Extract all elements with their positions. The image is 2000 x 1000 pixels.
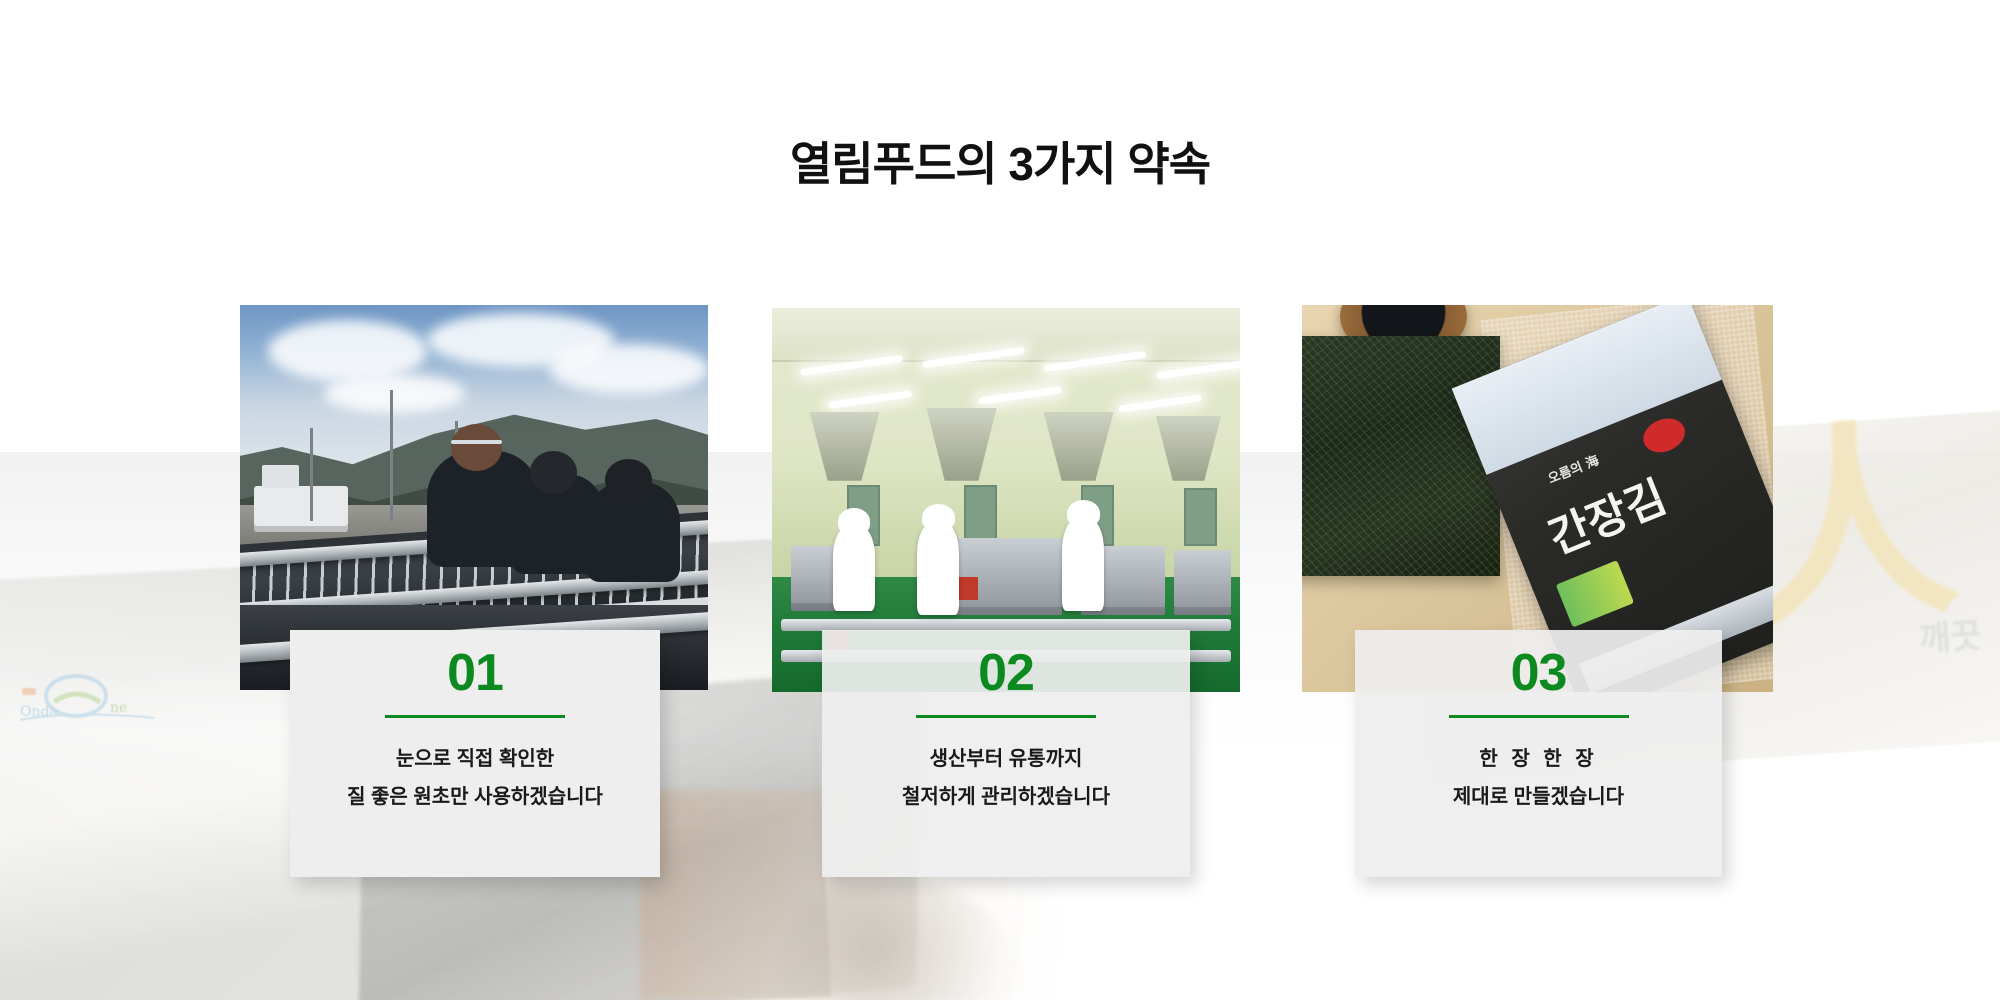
promise-card-03-divider [1449, 715, 1629, 718]
worker-head [530, 451, 577, 493]
worker-hair-cap [1067, 500, 1100, 527]
utility-pole [390, 390, 393, 521]
calligraphy-watermark-subtext: 깨끗 [1918, 608, 1984, 661]
page-title: 열림푸드의 3가지 약속 [0, 128, 2000, 194]
promise-card-02-number: 02 [822, 646, 1190, 701]
promise-card-01-line-1: 눈으로 직접 확인한 [290, 740, 660, 778]
cloud [324, 374, 464, 413]
promise-card-03-text: 한 장 한 장 제대로 만들겠습니다 [1355, 740, 1722, 816]
promise-section: Onda ne 붉 人 깨끗 열림푸드의 3가지 약속 [0, 0, 2000, 1000]
worker-hair-cap [922, 504, 955, 531]
promise-card-01-divider [385, 715, 565, 718]
promise-card-01-panel: 01 눈으로 직접 확인한 질 좋은 원초만 사용하겠습니다 [290, 630, 660, 877]
promise-card-01-text: 눈으로 직접 확인한 질 좋은 원초만 사용하겠습니다 [290, 740, 660, 816]
promise-card-02-line-2: 철저하게 관리하겠습니다 [822, 778, 1190, 816]
svg-text:Onda: Onda [20, 704, 58, 720]
utility-pole [310, 428, 313, 520]
cloud [268, 320, 427, 382]
svg-text:ne: ne [110, 700, 127, 716]
worker-in-whites [917, 523, 959, 615]
promise-card-03-line-1: 한 장 한 장 [1355, 740, 1722, 778]
cleanroom-door [964, 485, 997, 546]
promise-card-02-divider [916, 715, 1096, 718]
promise-card-01-line-2: 질 좋은 원초만 사용하겠습니다 [290, 778, 660, 816]
package-brand-text-small: 오름의 海 [1545, 450, 1602, 488]
white-truck [254, 486, 348, 532]
promise-card-03-line-2: 제대로 만들겠습니다 [1355, 778, 1722, 816]
package-red-seal [1638, 413, 1690, 459]
promise-card-02-panel: 02 생산부터 유통까지 철저하게 관리하겠습니다 [822, 630, 1190, 877]
cloud [549, 344, 708, 394]
processing-machine [1174, 550, 1230, 615]
package-certification-logo [1556, 560, 1635, 628]
worker-glasses [451, 440, 502, 444]
worker-in-whites [1062, 519, 1104, 611]
worker-hair-cap [838, 508, 871, 535]
promise-card-03-number: 03 [1355, 646, 1722, 701]
promise-card-03-panel: 03 한 장 한 장 제대로 만들겠습니다 [1355, 630, 1722, 877]
worker-in-whites [833, 527, 875, 611]
cleanroom-door [1184, 488, 1217, 546]
worker-head [605, 459, 652, 501]
sauce-bowl-watermark [760, 880, 1020, 1000]
promise-card-02-line-1: 생산부터 유통까지 [822, 740, 1190, 778]
certification-logo-watermark: Onda ne [14, 672, 164, 724]
worker-head [451, 424, 502, 470]
promise-card-02-text: 생산부터 유통까지 철저하게 관리하겠습니다 [822, 740, 1190, 816]
roasted-laver-sheet [1302, 336, 1500, 576]
promise-card-01-number: 01 [290, 646, 660, 701]
